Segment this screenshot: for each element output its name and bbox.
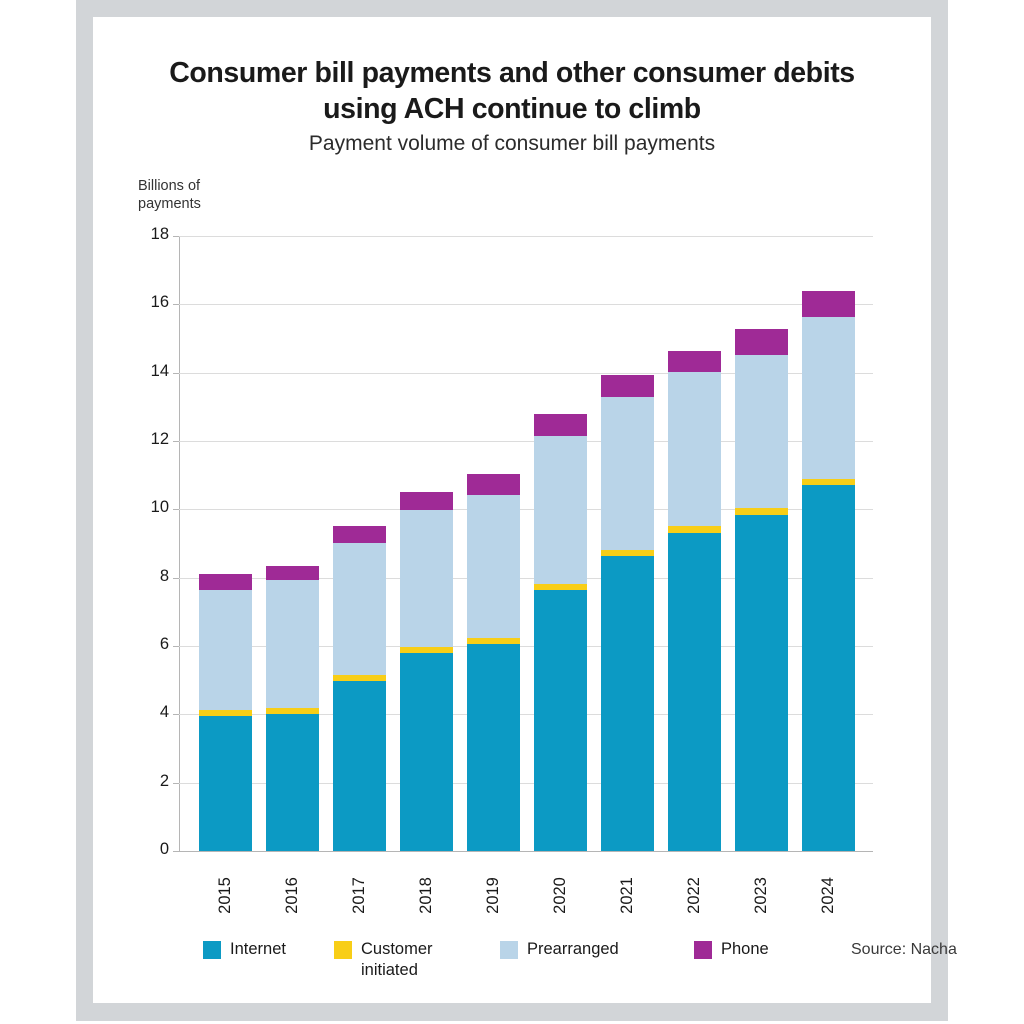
y-tick-mark bbox=[173, 783, 179, 784]
bar-2017[interactable] bbox=[333, 526, 386, 851]
bar-segment-phone[interactable] bbox=[400, 492, 453, 510]
bar-segment-customer-initiated[interactable] bbox=[199, 710, 252, 716]
bar-segment-phone[interactable] bbox=[668, 351, 721, 372]
bar-segment-prearranged[interactable] bbox=[199, 590, 252, 710]
bar-2020[interactable] bbox=[534, 414, 587, 851]
y-tick-label: 8 bbox=[135, 567, 169, 586]
x-tick-label: 2015 bbox=[199, 860, 252, 905]
bar-segment-customer-initiated[interactable] bbox=[400, 647, 453, 653]
y-tick-label: 2 bbox=[135, 772, 169, 791]
y-tick-mark bbox=[173, 851, 179, 852]
y-tick-mark bbox=[173, 304, 179, 305]
bar-segment-customer-initiated[interactable] bbox=[735, 508, 788, 515]
source-note: Source: Nacha bbox=[851, 941, 957, 959]
legend-swatch bbox=[203, 941, 221, 959]
bar-segment-customer-initiated[interactable] bbox=[534, 584, 587, 590]
y-axis-caption: Billions of payments bbox=[138, 177, 201, 213]
x-tick-label: 2018 bbox=[400, 860, 453, 905]
bar-segment-customer-initiated[interactable] bbox=[802, 479, 855, 486]
bar-segment-prearranged[interactable] bbox=[467, 495, 520, 639]
bar-2024[interactable] bbox=[802, 291, 855, 851]
y-tick-mark bbox=[173, 441, 179, 442]
x-tick-label: 2023 bbox=[735, 860, 788, 905]
legend-item-customer-initiated[interactable]: Customer initiated bbox=[334, 939, 433, 980]
legend-label: Customer initiated bbox=[361, 939, 433, 980]
y-tick-mark bbox=[173, 236, 179, 237]
bar-segment-customer-initiated[interactable] bbox=[668, 526, 721, 533]
bar-2018[interactable] bbox=[400, 492, 453, 851]
legend-label: Internet bbox=[230, 939, 286, 960]
y-tick-mark bbox=[173, 714, 179, 715]
bar-segment-internet[interactable] bbox=[467, 644, 520, 851]
bar-segment-prearranged[interactable] bbox=[802, 317, 855, 478]
bar-segment-internet[interactable] bbox=[735, 515, 788, 851]
legend-item-phone[interactable]: Phone bbox=[694, 939, 769, 960]
y-tick-label: 14 bbox=[135, 362, 169, 381]
x-tick-label: 2024 bbox=[802, 860, 855, 905]
bar-segment-internet[interactable] bbox=[266, 714, 319, 851]
bar-segment-internet[interactable] bbox=[534, 590, 587, 851]
legend-item-prearranged[interactable]: Prearranged bbox=[500, 939, 619, 960]
gridline bbox=[179, 236, 873, 237]
y-tick-label: 18 bbox=[135, 225, 169, 244]
bar-segment-customer-initiated[interactable] bbox=[467, 638, 520, 644]
chart-subtitle: Payment volume of consumer bill payments bbox=[133, 132, 891, 156]
bar-segment-internet[interactable] bbox=[333, 681, 386, 851]
x-tick-label: 2017 bbox=[333, 860, 386, 905]
bar-2019[interactable] bbox=[467, 474, 520, 851]
x-axis-line bbox=[179, 851, 873, 852]
chart-card: Consumer bill payments and other consume… bbox=[93, 17, 931, 1003]
legend-swatch bbox=[500, 941, 518, 959]
x-tick-label: 2016 bbox=[266, 860, 319, 905]
bar-segment-customer-initiated[interactable] bbox=[601, 550, 654, 556]
bar-segment-prearranged[interactable] bbox=[266, 580, 319, 708]
y-tick-label: 10 bbox=[135, 498, 169, 517]
y-tick-mark bbox=[173, 646, 179, 647]
bar-segment-prearranged[interactable] bbox=[400, 510, 453, 647]
y-tick-label: 6 bbox=[135, 635, 169, 654]
bar-segment-internet[interactable] bbox=[199, 716, 252, 851]
legend-label: Phone bbox=[721, 939, 769, 960]
y-tick-label: 0 bbox=[135, 840, 169, 859]
bar-2021[interactable] bbox=[601, 375, 654, 851]
bar-2023[interactable] bbox=[735, 329, 788, 851]
legend-item-internet[interactable]: Internet bbox=[203, 939, 286, 960]
gridline bbox=[179, 304, 873, 305]
bar-segment-phone[interactable] bbox=[534, 414, 587, 435]
x-tick-label: 2021 bbox=[601, 860, 654, 905]
bar-segment-phone[interactable] bbox=[199, 574, 252, 590]
x-tick-label: 2022 bbox=[668, 860, 721, 905]
bar-segment-prearranged[interactable] bbox=[333, 543, 386, 675]
bar-segment-customer-initiated[interactable] bbox=[333, 675, 386, 681]
bar-2015[interactable] bbox=[199, 574, 252, 851]
bar-segment-customer-initiated[interactable] bbox=[266, 708, 319, 714]
y-tick-label: 12 bbox=[135, 430, 169, 449]
y-axis-line bbox=[179, 236, 180, 851]
bar-segment-phone[interactable] bbox=[266, 566, 319, 580]
chart-legend: Source: Nacha InternetCustomer initiated… bbox=[203, 939, 903, 999]
bar-segment-phone[interactable] bbox=[467, 474, 520, 495]
x-tick-label: 2020 bbox=[534, 860, 587, 905]
bar-segment-phone[interactable] bbox=[601, 375, 654, 397]
y-tick-mark bbox=[173, 578, 179, 579]
bar-segment-internet[interactable] bbox=[802, 485, 855, 851]
bar-segment-phone[interactable] bbox=[735, 329, 788, 354]
legend-label: Prearranged bbox=[527, 939, 619, 960]
legend-swatch bbox=[334, 941, 352, 959]
y-tick-mark bbox=[173, 373, 179, 374]
legend-swatch bbox=[694, 941, 712, 959]
y-tick-label: 16 bbox=[135, 293, 169, 312]
bar-segment-prearranged[interactable] bbox=[668, 372, 721, 526]
y-tick-label: 4 bbox=[135, 703, 169, 722]
bar-segment-prearranged[interactable] bbox=[601, 397, 654, 550]
plot-area: 024681012141618 201520162017201820192020… bbox=[179, 236, 873, 851]
bar-segment-prearranged[interactable] bbox=[735, 355, 788, 509]
bar-segment-phone[interactable] bbox=[333, 526, 386, 542]
page-title: Consumer bill payments and other consume… bbox=[133, 55, 891, 128]
y-tick-mark bbox=[173, 509, 179, 510]
bar-2016[interactable] bbox=[266, 566, 319, 851]
bar-segment-internet[interactable] bbox=[601, 556, 654, 851]
x-tick-label: 2019 bbox=[467, 860, 520, 905]
bar-segment-phone[interactable] bbox=[802, 291, 855, 318]
bar-segment-internet[interactable] bbox=[668, 533, 721, 851]
bar-segment-internet[interactable] bbox=[400, 653, 453, 851]
bar-2022[interactable] bbox=[668, 351, 721, 851]
chart-page: Consumer bill payments and other consume… bbox=[0, 0, 1024, 1024]
bar-segment-prearranged[interactable] bbox=[534, 436, 587, 585]
